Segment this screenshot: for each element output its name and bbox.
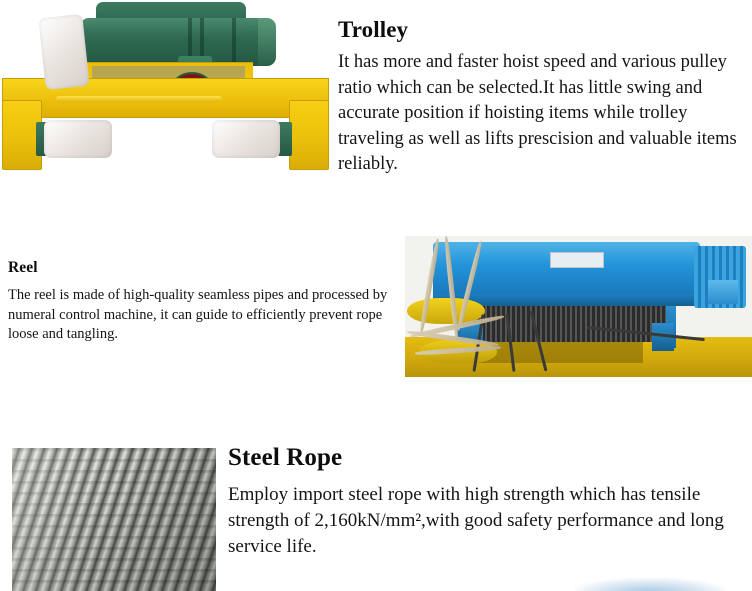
- trolley-drum-endcap: [258, 18, 276, 66]
- trolley-heading: Trolley: [338, 16, 752, 44]
- steel-rope-highlight: [12, 448, 216, 591]
- trolley-wheel-hub-right: [278, 122, 292, 156]
- trolley-illustration: [0, 0, 331, 176]
- trolley-hand-rail: [56, 96, 222, 102]
- trolley-text-block: Trolley It has more and faster hoist spe…: [338, 16, 752, 178]
- steel-rope-text-block: Steel Rope Employ import steel rope with…: [228, 443, 752, 560]
- trolley-description: It has more and faster hoist speed and v…: [338, 50, 752, 178]
- reel-rope-drum: [467, 302, 666, 342]
- trolley-end-beam-right: [289, 100, 329, 170]
- trolley-photo: [0, 0, 331, 176]
- trolley-drum-rib: [232, 18, 236, 66]
- reel-illustration: [405, 236, 752, 377]
- reel-text-block: Reel The reel is made of high-quality se…: [8, 258, 398, 345]
- steel-rope-heading: Steel Rope: [228, 443, 752, 473]
- steel-rope-photo: [12, 448, 216, 591]
- trolley-protective-wrap: [44, 120, 112, 158]
- trolley-hoist-drum: [80, 18, 274, 66]
- trolley-protective-wrap: [38, 14, 89, 90]
- next-image-peek: [575, 578, 725, 591]
- reel-photo: [405, 236, 752, 377]
- reel-description: The reel is made of high-quality seamles…: [8, 286, 398, 345]
- trolley-protective-wrap: [212, 120, 280, 158]
- steel-rope-description: Employ import steel rope with high stren…: [228, 482, 752, 560]
- steel-rope-illustration: [12, 448, 216, 591]
- reel-terminal-box: [708, 280, 738, 304]
- reel-heading: Reel: [8, 258, 398, 278]
- reel-name-plate: [550, 252, 604, 268]
